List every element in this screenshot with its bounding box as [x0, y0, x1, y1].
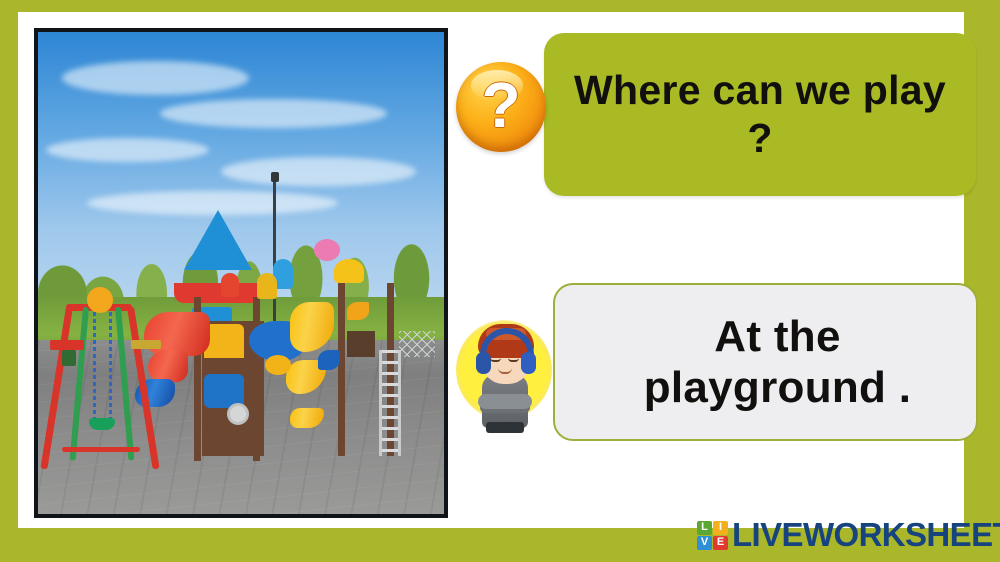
- yellow-cone-deco: [257, 273, 277, 299]
- activity-panel-yellow: [204, 324, 244, 358]
- answer-bubble[interactable]: At the playground .: [553, 283, 978, 441]
- bench-2: [131, 340, 161, 349]
- question-mark-icon: ?: [456, 62, 546, 152]
- post: [338, 273, 345, 456]
- logo-letter-blocks: L I V E: [697, 521, 728, 550]
- light-pole: [273, 177, 276, 322]
- red-cone-deco: [221, 273, 239, 297]
- logo-block-i: I: [713, 521, 728, 535]
- cloud: [221, 157, 416, 186]
- avatar-arms: [478, 394, 532, 409]
- photo-image: [38, 32, 444, 514]
- question-bubble[interactable]: Where can we play ?: [544, 33, 976, 196]
- swing-chain-left: [93, 312, 96, 418]
- logo-wordmark: LIVEWORKSHEETS: [732, 516, 1000, 554]
- worksheet-slide: ? Where can we play ? At the playground …: [0, 0, 1000, 562]
- slide-canvas: ? Where can we play ? At the playground …: [18, 12, 964, 528]
- swing-cross-brace: [62, 447, 140, 452]
- platform-wall: [347, 331, 375, 357]
- headphone-cup-right: [521, 352, 536, 374]
- headphone-cup-left: [476, 352, 491, 374]
- cone-roof: [184, 210, 252, 270]
- red-slide-lower: [148, 350, 188, 382]
- playground-photo: [34, 28, 448, 518]
- bench: [50, 340, 84, 350]
- orange-leaf-deco: [347, 302, 369, 320]
- logo-block-e: E: [713, 536, 728, 550]
- trash-bin: [62, 350, 76, 366]
- cloud: [46, 138, 208, 162]
- cloud: [62, 61, 249, 95]
- ladder: [379, 350, 401, 456]
- logo-block-v: V: [697, 536, 712, 550]
- steering-wheel: [227, 403, 249, 425]
- light-fixture: [271, 172, 279, 182]
- climbing-net: [399, 331, 435, 357]
- avatar-legs: [486, 422, 524, 433]
- yellow-flower-deco: [334, 259, 364, 283]
- question-mark-glyph: ?: [456, 62, 546, 152]
- swing-chain-right: [109, 312, 112, 418]
- roof-skirt: [174, 283, 260, 303]
- sunflower-deco: [87, 287, 113, 313]
- boy-with-headphones-avatar: [452, 302, 558, 434]
- swing-seat: [89, 418, 115, 430]
- logo-block-l: L: [697, 521, 712, 535]
- post: [253, 297, 260, 461]
- liveworksheets-logo[interactable]: L I V E LIVEWORKSHEETS: [697, 516, 1000, 554]
